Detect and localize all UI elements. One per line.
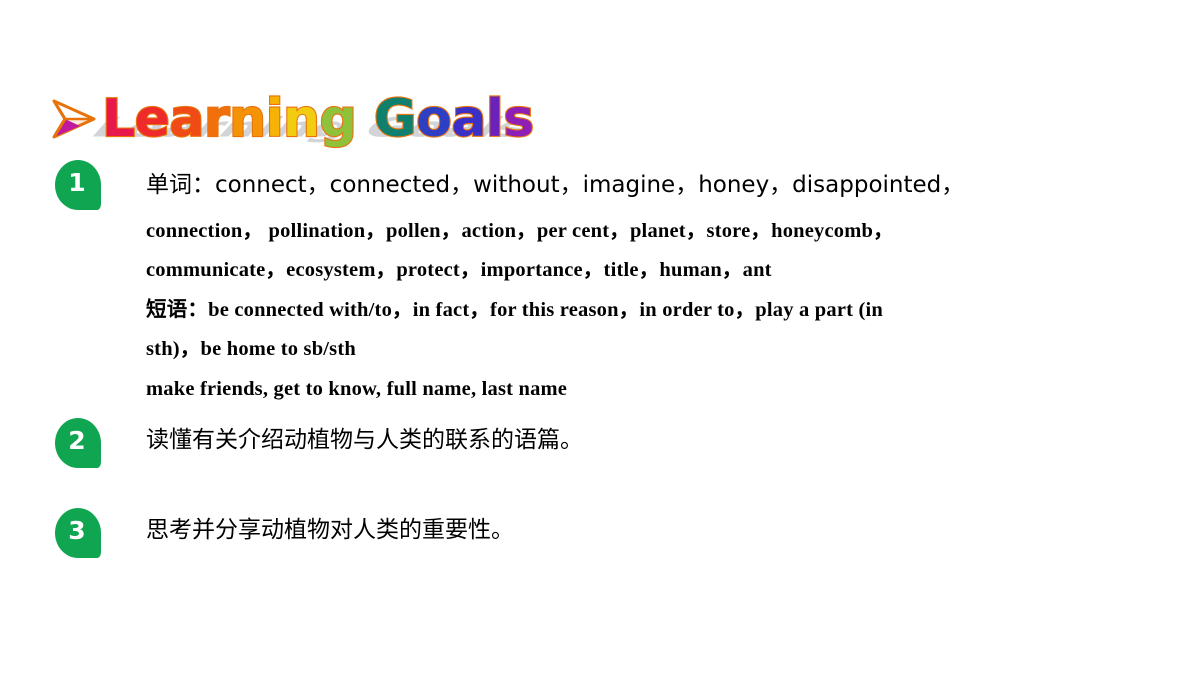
title-letter-5: i bbox=[266, 93, 283, 145]
goal-2-text: 读懂有关介绍动植物与人类的联系的语篇。 bbox=[146, 427, 583, 455]
goal-number-2: 2 bbox=[55, 418, 99, 462]
title-letter-3: r bbox=[204, 93, 229, 145]
slide-title-row: Learning Goals Learning Goals bbox=[50, 88, 534, 150]
goal-1-line-2: connection， pollination，pollen，action，pe… bbox=[146, 212, 894, 250]
title-letter-2: a bbox=[169, 93, 204, 145]
goal-number-1: 1 bbox=[55, 160, 99, 204]
goal-number-3: 3 bbox=[55, 508, 99, 552]
goal-1-line-4: 短语：be connected with/to，in fact，for this… bbox=[146, 291, 883, 329]
goal-1-line-2-text: connection， pollination，pollen，action，pe… bbox=[146, 220, 894, 242]
title-letter-6: n bbox=[283, 93, 320, 145]
arrow-bullet-icon bbox=[50, 95, 98, 143]
title-letter-8 bbox=[356, 93, 374, 145]
goal-1-line-1-text: 单词：connect，connected，without，imagine，hon… bbox=[146, 172, 964, 198]
goal-1-line-5-text: sth)，be home to sb/sth bbox=[146, 338, 356, 360]
goal-1-line-4-text: 短语：be connected with/to，in fact，for this… bbox=[146, 299, 883, 321]
goal-3-text: 思考并分享动植物对人类的重要性。 bbox=[146, 517, 514, 545]
title-letter-1: e bbox=[135, 93, 170, 145]
goal-marker-2: 2 bbox=[55, 418, 101, 468]
title-letter-13: s bbox=[503, 93, 533, 145]
page-title: Learning Goals bbox=[102, 93, 534, 145]
goal-1-line-3-text: communicate，ecosystem，protect，importance… bbox=[146, 259, 772, 281]
title-letter-4: n bbox=[229, 93, 266, 145]
goal-1-line-5: sth)，be home to sb/sth bbox=[146, 330, 356, 368]
title-letter-0: L bbox=[102, 93, 135, 145]
goal-1-line-6-text: make friends, get to know, full name, la… bbox=[146, 378, 567, 400]
slide-title-wrap: Learning Goals Learning Goals bbox=[102, 88, 534, 150]
title-letter-11: a bbox=[451, 93, 486, 145]
slide-canvas: Learning Goals Learning Goals 1 单词：conne… bbox=[0, 0, 1200, 675]
goal-1-line-3: communicate，ecosystem，protect，importance… bbox=[146, 251, 772, 289]
title-letter-7: g bbox=[320, 93, 357, 145]
goal-marker-1: 1 bbox=[55, 160, 101, 210]
title-letter-12: l bbox=[486, 93, 503, 145]
title-letter-10: o bbox=[416, 93, 451, 145]
goal-marker-3: 3 bbox=[55, 508, 101, 558]
title-letter-9: G bbox=[374, 93, 416, 145]
goal-1-line-1: 单词：connect，connected，without，imagine，hon… bbox=[146, 172, 964, 200]
goal-1-line-6: make friends, get to know, full name, la… bbox=[146, 370, 567, 408]
